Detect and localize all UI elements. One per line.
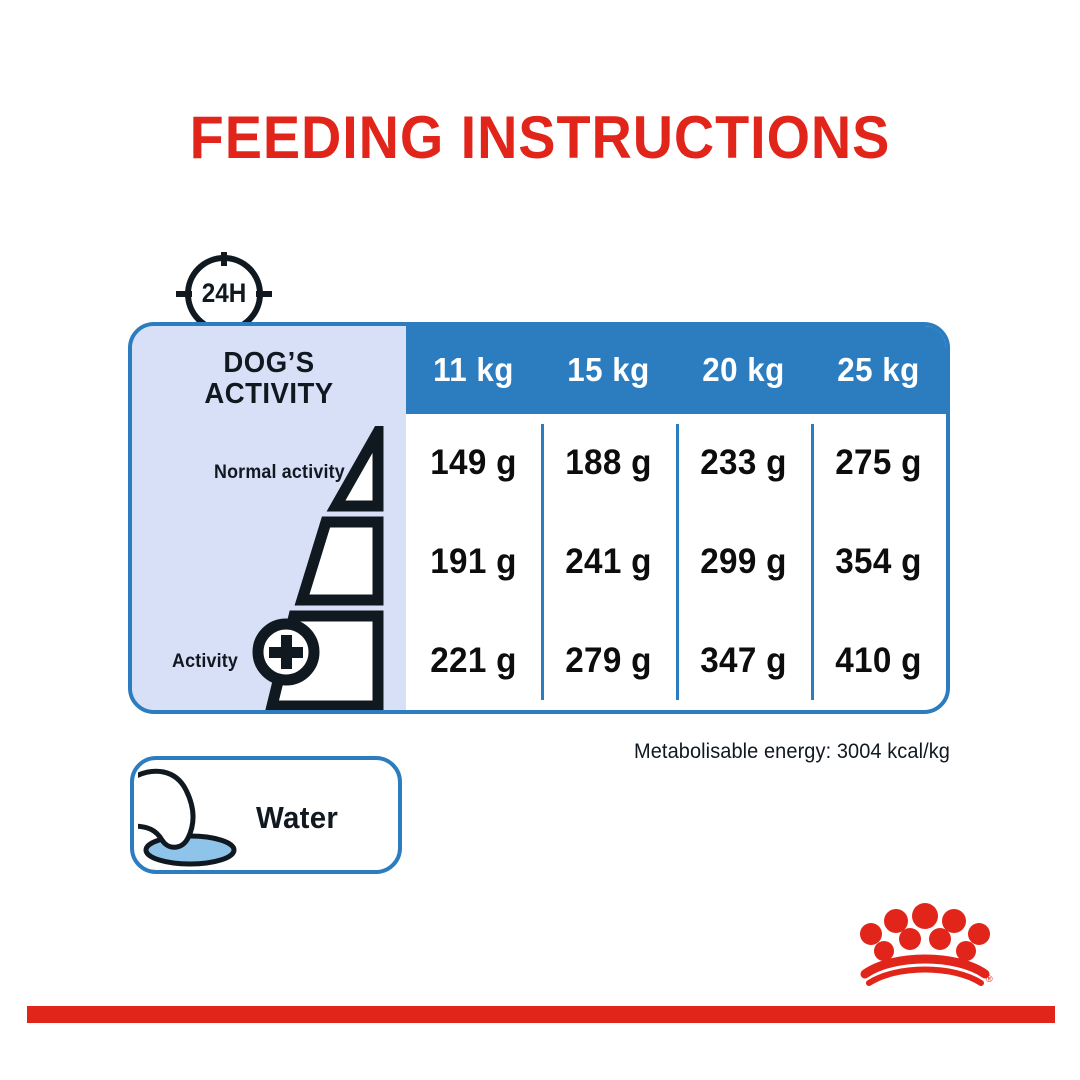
dogs-activity-header-line2: ACTIVITY <box>139 379 399 410</box>
table-cell: 241 g <box>544 513 672 612</box>
table-cell: 188 g <box>544 414 672 513</box>
table-cell: 354 g <box>814 513 942 612</box>
feeding-values-region: 11 kg 15 kg 20 kg 25 kg 149 g 191 g 221 … <box>406 326 946 710</box>
weight-columns-header: 11 kg 15 kg 20 kg 25 kg <box>406 326 946 414</box>
table-cell: 275 g <box>814 414 942 513</box>
activity-wedge-icon <box>250 426 400 714</box>
table-cell: 299 g <box>679 513 807 612</box>
registered-mark: ® <box>986 974 993 984</box>
activity-label-plus: Activity <box>172 651 238 673</box>
feeding-values-body: 149 g 191 g 221 g 188 g 241 g 279 g 233 … <box>406 414 946 710</box>
dog-drinking-water-icon <box>138 764 258 872</box>
dogs-activity-header-line1: DOG’S <box>139 348 399 379</box>
dog-drinking-water-icon-wrap <box>138 764 258 872</box>
royal-canin-crown-logo: ® <box>855 902 995 986</box>
water-label: Water <box>256 800 338 836</box>
table-cell: 347 g <box>679 611 807 710</box>
page-title: FEEDING INSTRUCTIONS <box>38 108 1042 168</box>
table-cell: 191 g <box>409 513 537 612</box>
column-header-3: 25 kg <box>814 326 942 414</box>
column-header-0: 11 kg <box>409 326 537 414</box>
dogs-activity-panel: DOG’S ACTIVITY Normal activity Activity <box>132 326 406 710</box>
values-column-20kg: 233 g 299 g 347 g <box>676 414 811 710</box>
dog-head-shape <box>138 771 193 847</box>
column-header-2: 20 kg <box>679 326 807 414</box>
activity-level-1-shape <box>336 432 378 506</box>
table-cell: 410 g <box>814 611 942 710</box>
table-cell: 149 g <box>409 414 537 513</box>
activity-wedge-icon-wrap <box>250 426 400 714</box>
footer-rule <box>27 1006 1055 1023</box>
water-box: Water <box>130 756 402 874</box>
metabolisable-energy-note: Metabolisable energy: 3004 kcal/kg <box>456 740 950 764</box>
values-column-15kg: 188 g 241 g 279 g <box>541 414 676 710</box>
plus-icon-horizontal <box>269 647 303 658</box>
column-header-1: 15 kg <box>544 326 672 414</box>
feeding-table: DOG’S ACTIVITY Normal activity Activity … <box>128 322 950 714</box>
table-cell: 221 g <box>409 611 537 710</box>
values-column-11kg: 149 g 191 g 221 g <box>406 414 541 710</box>
values-column-25kg: 275 g 354 g 410 g <box>811 414 946 710</box>
dogs-activity-header: DOG’S ACTIVITY <box>139 348 399 411</box>
table-cell: 233 g <box>679 414 807 513</box>
royal-canin-logo: ® <box>855 902 995 986</box>
table-cell: 279 g <box>544 611 672 710</box>
activity-level-2-shape <box>302 522 378 600</box>
clock-24h-label: 24H <box>174 278 275 309</box>
